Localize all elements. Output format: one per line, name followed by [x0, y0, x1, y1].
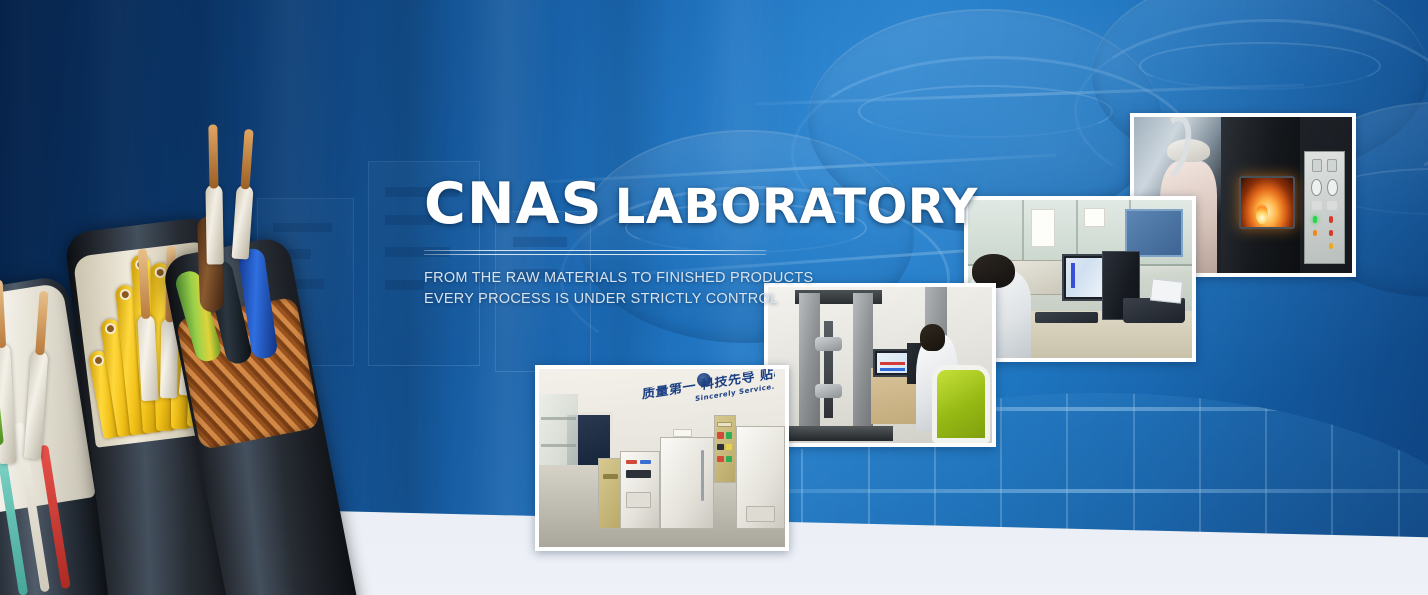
wall-document-2	[1084, 208, 1104, 227]
chamber-control-panel	[714, 415, 736, 483]
hero-banner: 质量第一 科技先导 贴心服务客户 Sincerely Service.	[0, 0, 1428, 595]
page-title: CNASLABORATORY	[424, 176, 944, 233]
printer	[1123, 298, 1186, 323]
wall-document	[1031, 209, 1056, 247]
hero-copy-block: CNASLABORATORY FROM THE RAW MATERIALS TO…	[424, 176, 944, 309]
tagline-line-2: EVERY PROCESS IS UNDER STRICTLY CONTROL	[424, 289, 944, 310]
tagline-line-1: FROM THE RAW MATERIALS TO FINISHED PRODU…	[424, 268, 944, 289]
photo-lab-corridor-image: 质量第一 科技先导 贴心服务客户 Sincerely Service.	[539, 369, 785, 547]
headline-primary: CNAS	[424, 171, 603, 237]
cable-lead-1	[206, 184, 224, 264]
green-office-chair	[932, 365, 990, 443]
computer-monitor	[1062, 254, 1107, 301]
photo-workstation[interactable]	[964, 196, 1196, 362]
tagline: FROM THE RAW MATERIALS TO FINISHED PRODU…	[424, 268, 944, 309]
test-chamber-3	[660, 437, 714, 530]
photo-lab-corridor[interactable]: 质量第一 科技先导 贴心服务客户 Sincerely Service.	[535, 365, 789, 551]
burn-chamber-window	[1239, 176, 1296, 229]
test-specimen	[824, 321, 833, 418]
burn-chamber-control-panel	[1304, 151, 1345, 263]
test-chamber-2	[620, 451, 659, 529]
photo-workstation-image	[968, 200, 1192, 358]
photo-tensile-tester-image	[768, 287, 992, 443]
flame-icon	[1256, 204, 1268, 224]
tester-base	[788, 426, 893, 442]
operator-head	[920, 324, 945, 351]
product-cable-group	[0, 120, 452, 595]
tester-column-left	[799, 293, 819, 433]
headline-secondary: LABORATORY	[615, 179, 978, 235]
keyboard	[1035, 312, 1098, 323]
tester-grip-upper	[815, 337, 842, 351]
tester-grip-lower	[815, 384, 842, 398]
test-chamber-4	[736, 426, 785, 529]
title-divider	[424, 250, 766, 257]
tester-monitor	[873, 349, 911, 377]
test-chamber-1	[598, 458, 623, 529]
